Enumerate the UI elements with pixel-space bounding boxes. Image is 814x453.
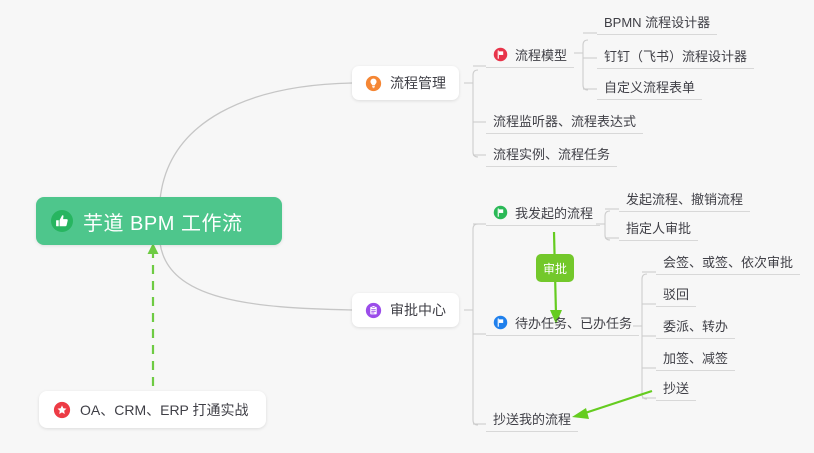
branch-node-approval-center[interactable]: 审批中心 xyxy=(352,293,459,327)
note-label: OA、CRM、ERP 打通实战 xyxy=(80,400,249,420)
lightbulb-icon xyxy=(365,75,382,92)
node-label: 抄送我的流程 xyxy=(493,409,571,428)
mindmap-canvas: 芋道 BPM 工作流 流程管理 流程模型 流程监听器、流程表达式 流程实例、流 xyxy=(0,0,814,453)
node-my-started-processes[interactable]: 我发起的流程 xyxy=(486,200,600,226)
node-process-model[interactable]: 流程模型 xyxy=(486,42,574,68)
node-label: 流程监听器、流程表达式 xyxy=(493,111,636,130)
node-add-remove-sign[interactable]: 加签、减签 xyxy=(656,345,735,371)
node-label: 钉钉（飞书）流程设计器 xyxy=(604,46,747,65)
root-node[interactable]: 芋道 BPM 工作流 xyxy=(36,197,282,245)
branch-label: 审批中心 xyxy=(390,300,446,320)
node-reject[interactable]: 驳回 xyxy=(656,281,696,307)
node-label: 会签、或签、依次审批 xyxy=(663,252,793,271)
node-dingtalk-designer[interactable]: 钉钉（飞书）流程设计器 xyxy=(597,43,754,69)
node-process-instance[interactable]: 流程实例、流程任务 xyxy=(486,141,617,167)
node-label: 驳回 xyxy=(663,284,689,303)
node-label: 我发起的流程 xyxy=(515,203,593,222)
node-label: 流程模型 xyxy=(515,45,567,64)
edge-todo-bracket xyxy=(642,274,647,399)
node-cc[interactable]: 抄送 xyxy=(656,375,696,401)
node-countersign[interactable]: 会签、或签、依次审批 xyxy=(656,249,800,275)
node-label: 自定义流程表单 xyxy=(604,77,695,96)
note-card-integration[interactable]: OA、CRM、ERP 打通实战 xyxy=(39,391,266,428)
flag-icon xyxy=(493,205,508,220)
edge-root-to-process xyxy=(160,83,352,200)
node-todo-done-tasks[interactable]: 待办任务、已办任务 xyxy=(486,310,639,336)
node-label: 加签、减签 xyxy=(663,348,728,367)
root-label: 芋道 BPM 工作流 xyxy=(83,207,242,236)
node-process-listener[interactable]: 流程监听器、流程表达式 xyxy=(486,108,643,134)
node-label: 流程实例、流程任务 xyxy=(493,144,610,163)
star-icon xyxy=(53,401,71,419)
edge-model-bracket xyxy=(583,40,588,90)
node-label: 抄送 xyxy=(663,378,689,397)
dashed-arrow-note-to-root xyxy=(148,243,159,386)
edge-mine-bracket xyxy=(605,211,610,240)
thumbs-up-icon xyxy=(50,209,74,233)
flag-icon xyxy=(493,47,508,62)
edge-approval-bracket xyxy=(473,224,478,425)
node-label: 待办任务、已办任务 xyxy=(515,313,632,332)
branch-label: 流程管理 xyxy=(390,73,446,93)
node-custom-form[interactable]: 自定义流程表单 xyxy=(597,74,702,100)
flag-icon xyxy=(493,315,508,330)
annotation-chip-approval: 审批 xyxy=(536,254,574,282)
node-cc-to-me-processes[interactable]: 抄送我的流程 xyxy=(486,406,578,432)
node-label: 委派、转办 xyxy=(663,316,728,335)
node-label: BPMN 流程设计器 xyxy=(604,12,710,31)
node-start-cancel-process[interactable]: 发起流程、撤销流程 xyxy=(619,186,750,212)
node-bpmn-designer[interactable]: BPMN 流程设计器 xyxy=(597,9,717,35)
node-assigned-approval[interactable]: 指定人审批 xyxy=(619,215,698,241)
edge-process-bracket xyxy=(473,70,478,157)
arrow-cc-to-ccmine xyxy=(572,391,652,419)
edge-root-to-approval xyxy=(160,243,352,310)
node-label: 指定人审批 xyxy=(626,218,691,237)
chip-label: 审批 xyxy=(543,260,567,277)
node-delegate-transfer[interactable]: 委派、转办 xyxy=(656,313,735,339)
clipboard-icon xyxy=(365,302,382,319)
branch-node-process-management[interactable]: 流程管理 xyxy=(352,66,459,100)
node-label: 发起流程、撤销流程 xyxy=(626,189,743,208)
